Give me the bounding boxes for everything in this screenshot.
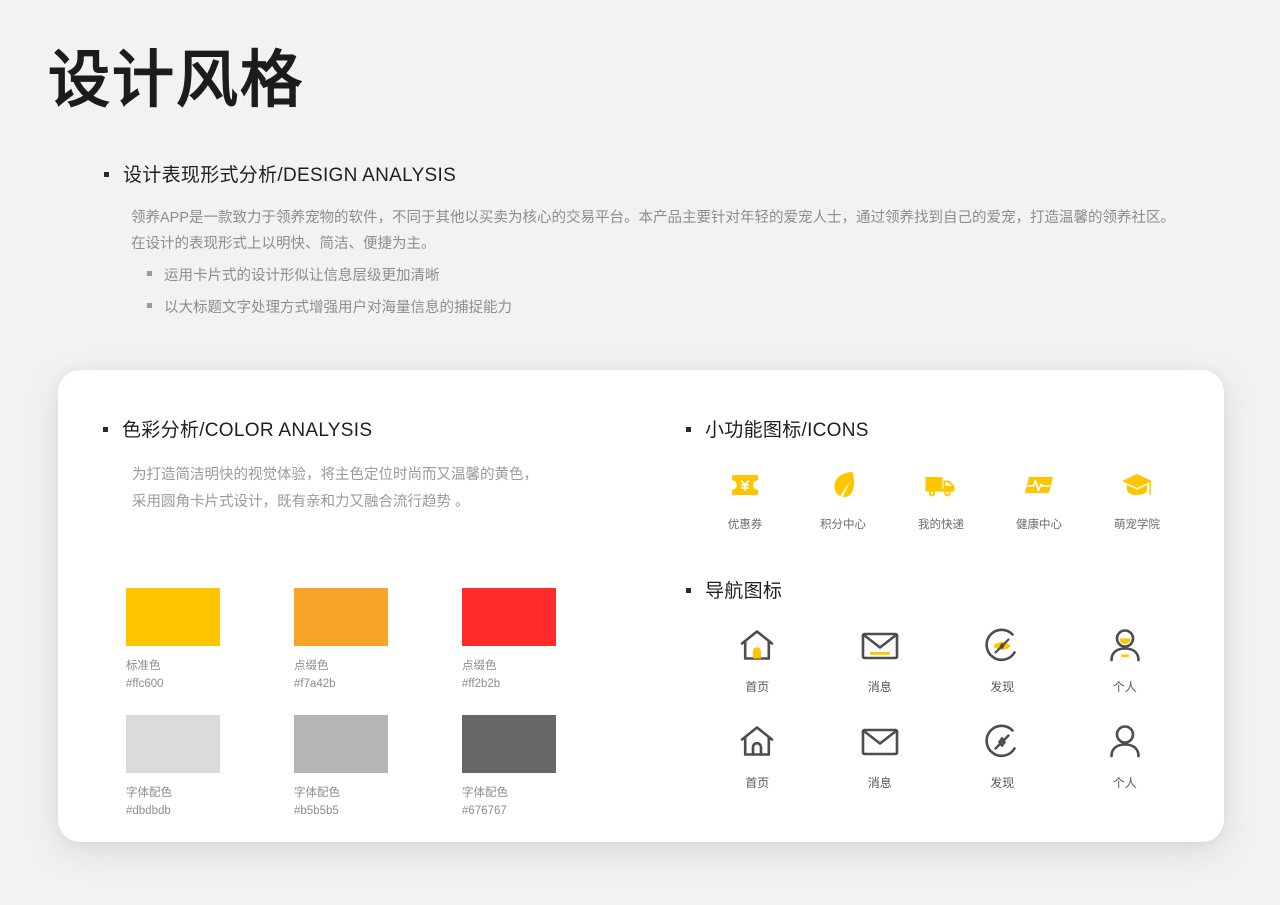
function-icon-label: 优惠券 (728, 516, 763, 532)
swatch-name: 点缀色 (294, 657, 462, 675)
swatch-hex: #dbdbdb (126, 802, 294, 820)
nav-item-home-inactive[interactable]: 首页 (696, 721, 819, 791)
function-icon-item[interactable]: 我的快递 (892, 468, 990, 532)
color-swatch: 字体配色 #b5b5b5 (294, 715, 462, 820)
nav-icons-heading-label: 导航图标 (705, 576, 782, 603)
graduation-cap-icon (1121, 468, 1153, 502)
swatch-hex: #f7a42b (294, 675, 462, 693)
color-swatch: 字体配色 #676767 (462, 715, 630, 820)
swatch-name: 点缀色 (462, 657, 630, 675)
content-card: 色彩分析/COLOR ANALYSIS 为打造简洁明快的视觉体验，将主色定位时尚… (58, 370, 1224, 842)
color-analysis-description: 为打造简洁明快的视觉体验，将主色定位时尚而又温馨的黄色，采用圆角卡片式设计，既有… (132, 462, 552, 516)
nav-item-label: 发现 (990, 678, 1014, 695)
swatch-chip (126, 588, 220, 646)
swatch-hex: #ffc600 (126, 675, 294, 693)
page-title: 设计风格 (48, 47, 304, 115)
swatch-hex: #676767 (462, 802, 630, 820)
nav-icon-row-active: 首页 消息 (696, 625, 1186, 695)
swatch-chip (294, 588, 388, 646)
nav-item-label: 个人 (1113, 774, 1137, 791)
nav-item-message-inactive[interactable]: 消息 (819, 721, 942, 791)
home-icon (737, 625, 777, 667)
nav-item-label: 消息 (868, 678, 892, 695)
color-analysis-heading: 色彩分析/COLOR ANALYSIS (103, 415, 603, 442)
swatch-name: 字体配色 (294, 784, 462, 802)
square-bullet-icon (104, 172, 109, 177)
function-icon-label: 我的快递 (918, 516, 964, 532)
function-icon-item[interactable]: 萌宠学院 (1088, 468, 1186, 532)
design-analysis-heading-label: 设计表现形式分析/DESIGN ANALYSIS (123, 160, 456, 187)
nav-icon-row-inactive: 首页 消息 (696, 721, 1186, 791)
nav-icons-section: 导航图标 首页 (686, 576, 1186, 791)
nav-item-home-active[interactable]: 首页 (696, 625, 819, 695)
leaf-icon (830, 468, 856, 502)
color-swatch-grid: 标准色 #ffc600 点缀色 #f7a42b 点缀色 #ff2b2b 字体配色… (126, 588, 630, 820)
person-icon (1106, 625, 1144, 667)
design-analysis-heading: 设计表现形式分析/DESIGN ANALYSIS (104, 160, 1204, 187)
function-icon-item[interactable]: 健康中心 (990, 468, 1088, 532)
list-item: 运用卡片式的设计形似让信息层级更加清晰 (147, 263, 1204, 289)
slide-canvas: 设计风格 设计表现形式分析/DESIGN ANALYSIS 领养APP是一款致力… (0, 0, 1280, 905)
swatch-name: 字体配色 (462, 784, 630, 802)
nav-item-profile-inactive[interactable]: 个人 (1064, 721, 1187, 791)
nav-item-label: 首页 (745, 678, 769, 695)
envelope-icon (859, 721, 901, 763)
icons-heading-label: 小功能图标/ICONS (705, 415, 869, 442)
color-swatch: 点缀色 #ff2b2b (462, 588, 630, 693)
nav-item-discover-active[interactable]: 发现 (941, 625, 1064, 695)
design-analysis-bullet-list: 运用卡片式的设计形似让信息层级更加清晰 以大标题文字处理方式增强用户对海量信息的… (147, 263, 1204, 321)
nav-icons-heading: 导航图标 (686, 576, 1186, 603)
coupon-ticket-icon (730, 468, 760, 502)
function-icon-label: 积分中心 (820, 516, 866, 532)
square-bullet-icon (103, 427, 108, 432)
function-icon-item[interactable]: 优惠券 (696, 468, 794, 532)
color-swatch: 字体配色 #dbdbdb (126, 715, 294, 820)
delivery-truck-icon (924, 468, 958, 502)
nav-item-label: 消息 (868, 774, 892, 791)
nav-item-profile-active[interactable]: 个人 (1064, 625, 1187, 695)
color-swatch: 标准色 #ffc600 (126, 588, 294, 693)
heart-pulse-icon (1023, 468, 1055, 502)
compass-icon (983, 625, 1021, 667)
color-analysis-heading-label: 色彩分析/COLOR ANALYSIS (122, 415, 372, 442)
person-icon (1106, 721, 1144, 763)
function-icon-label: 健康中心 (1016, 516, 1062, 532)
square-bullet-icon (147, 271, 152, 276)
swatch-chip (126, 715, 220, 773)
design-analysis-paragraph: 领养APP是一款致力于领养宠物的软件，不同于其他以买卖为核心的交易平台。本产品主… (131, 205, 1181, 257)
function-icon-item[interactable]: 积分中心 (794, 468, 892, 532)
swatch-hex: #ff2b2b (462, 675, 630, 693)
swatch-hex: #b5b5b5 (294, 802, 462, 820)
color-analysis-section: 色彩分析/COLOR ANALYSIS 为打造简洁明快的视觉体验，将主色定位时尚… (103, 415, 603, 516)
nav-item-label: 首页 (745, 774, 769, 791)
list-item: 以大标题文字处理方式增强用户对海量信息的捕捉能力 (147, 295, 1204, 321)
home-icon (737, 721, 777, 763)
icons-and-nav-section: 小功能图标/ICONS (686, 415, 1186, 791)
swatch-name: 标准色 (126, 657, 294, 675)
square-bullet-icon (686, 427, 691, 432)
design-analysis-section: 设计表现形式分析/DESIGN ANALYSIS 领养APP是一款致力于领养宠物… (104, 160, 1204, 321)
nav-item-label: 发现 (990, 774, 1014, 791)
swatch-chip (294, 715, 388, 773)
function-icon-row: 优惠券 积分中心 (696, 468, 1186, 532)
swatch-chip (462, 715, 556, 773)
color-swatch: 点缀色 #f7a42b (294, 588, 462, 693)
swatch-chip (462, 588, 556, 646)
nav-item-discover-inactive[interactable]: 发现 (941, 721, 1064, 791)
compass-icon (983, 721, 1021, 763)
icons-heading: 小功能图标/ICONS (686, 415, 1186, 442)
list-item-label: 以大标题文字处理方式增强用户对海量信息的捕捉能力 (164, 295, 512, 321)
nav-item-label: 个人 (1113, 678, 1137, 695)
list-item-label: 运用卡片式的设计形似让信息层级更加清晰 (164, 263, 440, 289)
function-icon-label: 萌宠学院 (1114, 516, 1160, 532)
nav-item-message-active[interactable]: 消息 (819, 625, 942, 695)
envelope-icon (859, 625, 901, 667)
square-bullet-icon (147, 303, 152, 308)
swatch-name: 字体配色 (126, 784, 294, 802)
square-bullet-icon (686, 588, 691, 593)
